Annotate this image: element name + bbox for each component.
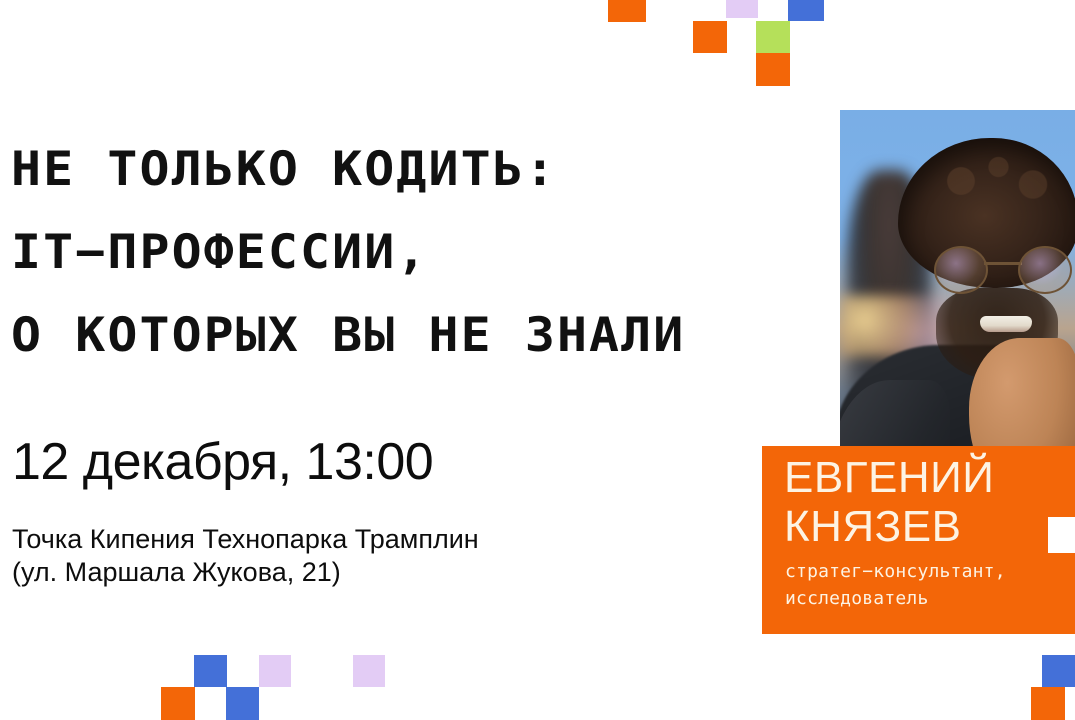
square-lavender-2 — [259, 655, 291, 687]
photo-lens-right — [1018, 246, 1072, 294]
event-venue: Точка Кипения Технопарка Трамплин (ул. М… — [12, 523, 479, 589]
white-accent-block — [1048, 517, 1075, 553]
event-datetime: 12 декабря, 13:00 — [12, 432, 433, 492]
speaker-info-panel: ЕВГЕНИЙ КНЯЗЕВ стратег−консультант, иссл… — [762, 446, 1075, 634]
square-green-1 — [756, 21, 790, 53]
square-orange-1 — [608, 0, 646, 22]
photo-glasses-bridge — [984, 262, 1022, 265]
square-orange-3 — [756, 53, 790, 86]
event-poster: НЕ ТОЛЬКО КОДИТЬ: IT−ПРОФЕССИИ, О КОТОРЫ… — [0, 0, 1075, 720]
venue-line-1: Точка Кипения Технопарка Трамплин — [12, 523, 479, 556]
square-orange-4 — [161, 687, 195, 720]
venue-line-2: (ул. Маршала Жукова, 21) — [12, 556, 479, 589]
speaker-name-line-1: ЕВГЕНИЙ — [784, 453, 994, 502]
square-blue-2 — [194, 655, 227, 687]
headline-line-2: IT−ПРОФЕССИИ, — [11, 211, 891, 294]
headline-line-3: О КОТОРЫХ ВЫ НЕ ЗНАЛИ — [11, 294, 891, 377]
photo-lens-left — [934, 246, 988, 294]
square-blue-3 — [226, 687, 259, 720]
speaker-role-line-2: исследователь — [785, 585, 1006, 612]
square-blue-1 — [788, 0, 824, 21]
headline-line-1: НЕ ТОЛЬКО КОДИТЬ: — [11, 128, 891, 211]
square-lavender-3 — [353, 655, 385, 687]
square-lavender-1 — [726, 0, 758, 18]
speaker-role-line-1: стратег−консультант, — [785, 558, 1006, 585]
square-orange-5 — [1031, 687, 1065, 720]
square-orange-2 — [693, 21, 727, 53]
photo-glasses — [932, 246, 1072, 290]
page-title: НЕ ТОЛЬКО КОДИТЬ: IT−ПРОФЕССИИ, О КОТОРЫ… — [11, 128, 841, 377]
square-blue-4 — [1042, 655, 1075, 687]
photo-smile — [980, 316, 1032, 332]
speaker-role: стратег−консультант, исследователь — [785, 558, 1006, 612]
speaker-name: ЕВГЕНИЙ КНЯЗЕВ — [784, 453, 994, 551]
speaker-name-line-2: КНЯЗЕВ — [784, 502, 994, 551]
